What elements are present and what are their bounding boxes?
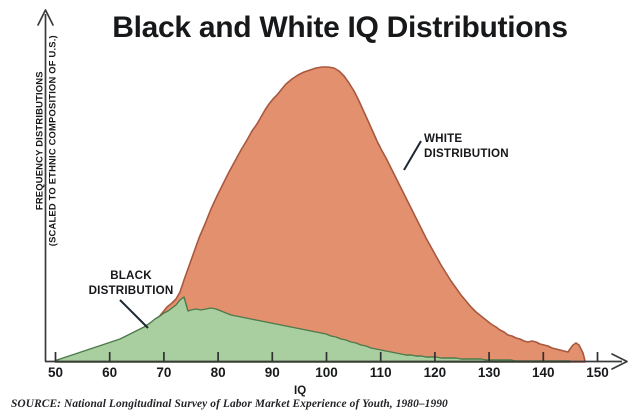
y-axis-title: FREQUENCY DISTRIBUTIONS (SCALED TO ETHNI… bbox=[33, 7, 58, 275]
iq-distribution-plot bbox=[0, 0, 633, 418]
white-annotation-line-2: DISTRIBUTION bbox=[424, 147, 509, 162]
white-distribution-area bbox=[57, 67, 585, 362]
source-note: SOURCE: National Longitudinal Survey of … bbox=[11, 398, 448, 410]
x-tick-label-120: 120 bbox=[415, 365, 455, 380]
black-distribution-annotation: BLACK DISTRIBUTION bbox=[50, 269, 212, 299]
black-annotation-line-2: DISTRIBUTION bbox=[50, 284, 212, 299]
black-annotation-line-1: BLACK bbox=[50, 269, 212, 284]
x-tick-label-150: 150 bbox=[578, 365, 618, 380]
x-tick-label-110: 110 bbox=[361, 365, 401, 380]
page-title: Black and White IQ Distributions bbox=[62, 12, 618, 44]
x-tick-label-50: 50 bbox=[36, 365, 76, 380]
white-annotation-line-1: WHITE bbox=[424, 132, 509, 147]
x-tick-label-90: 90 bbox=[252, 365, 292, 380]
x-tick-label-60: 60 bbox=[90, 365, 130, 380]
y-axis-title-line-1: FREQUENCY DISTRIBUTIONS bbox=[33, 7, 46, 275]
x-tick-label-70: 70 bbox=[144, 365, 184, 380]
y-axis-title-line-2: (SCALED TO ETHNIC COMPOSITION OF U.S.) bbox=[46, 7, 59, 275]
white-annotation-leader-line bbox=[404, 141, 421, 170]
x-tick-label-80: 80 bbox=[198, 365, 238, 380]
x-tick-label-140: 140 bbox=[523, 365, 563, 380]
x-tick-label-130: 130 bbox=[469, 365, 509, 380]
x-axis-title: IQ bbox=[294, 385, 306, 397]
white-distribution-annotation: WHITE DISTRIBUTION bbox=[424, 132, 509, 162]
black-annotation-leader-line bbox=[120, 300, 148, 328]
x-tick-label-100: 100 bbox=[307, 365, 347, 380]
chart-figure: Black and White IQ Distributions FREQUEN… bbox=[0, 0, 633, 418]
